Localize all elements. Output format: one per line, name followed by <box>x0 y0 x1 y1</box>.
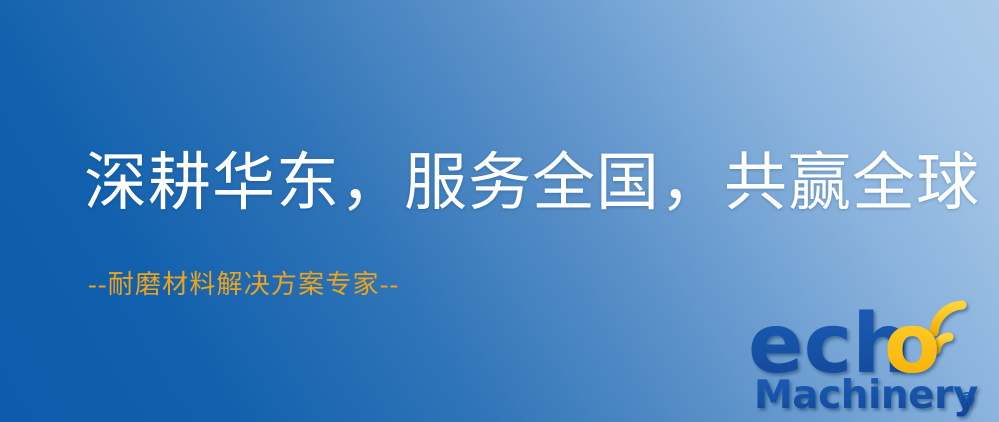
registered-trademark-mark: ® <box>957 388 977 412</box>
banner-subtitle: --耐磨材料解决方案专家-- <box>88 264 399 301</box>
logo-tagline: Machinery <box>754 373 978 418</box>
banner-headline: 深耕华东，服务全国，共赢全球 <box>84 150 980 216</box>
echo-machinery-logo[interactable]: ech o Machinery ® <box>748 296 996 418</box>
hero-banner: 深耕华东，服务全国，共赢全球 --耐磨材料解决方案专家-- <box>0 0 999 422</box>
